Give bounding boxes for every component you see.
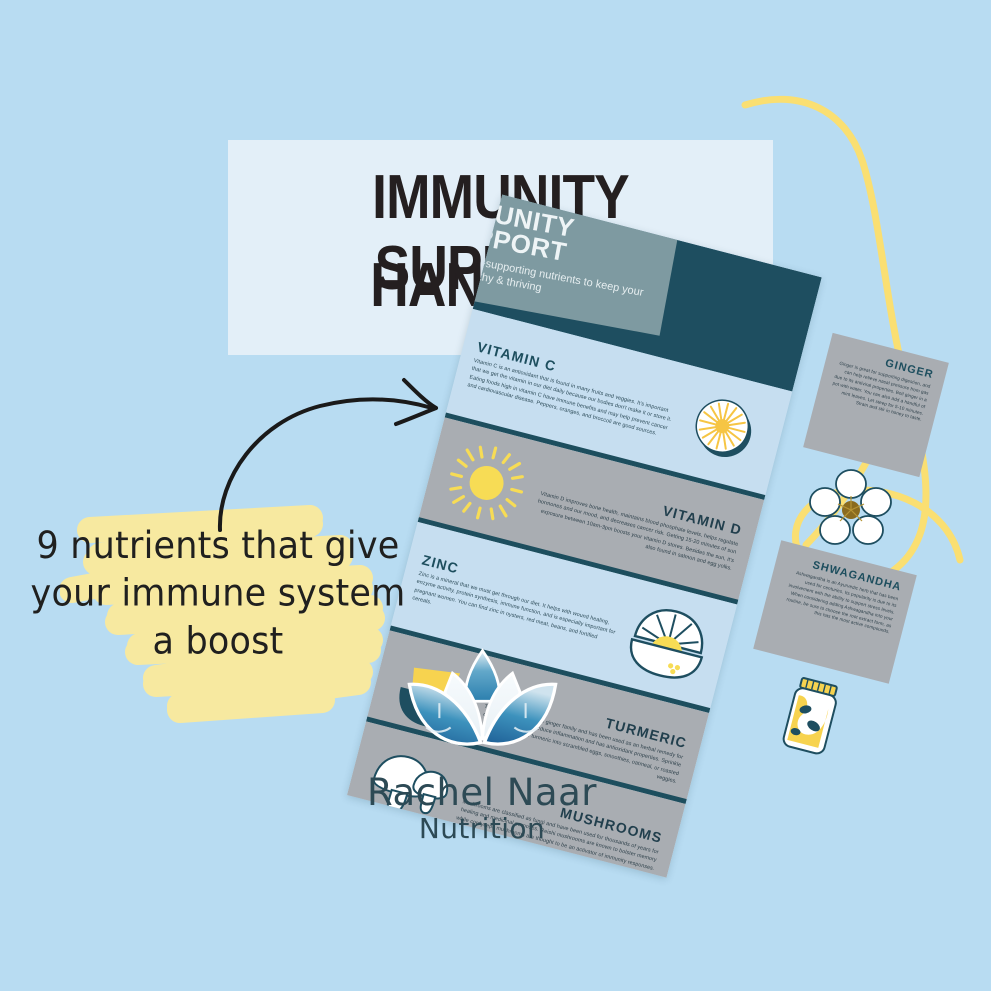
brand-name: Rachel Naar xyxy=(352,771,612,814)
brand-logo: Rachel Naar Nutrition xyxy=(352,645,612,860)
lotus-leaf-icon xyxy=(395,645,570,765)
brand-subtitle: Nutrition xyxy=(352,812,612,845)
jar-icon xyxy=(773,671,849,761)
handout-side-card-ginger: GINGER Ginger is great for supporting di… xyxy=(803,333,949,477)
white-flower-icon xyxy=(806,466,896,552)
orange-slice-icon xyxy=(672,378,776,479)
sun-icon xyxy=(435,432,539,533)
subtitle-text: 9 nutrients that give your immune system… xyxy=(28,523,408,665)
poster-canvas: IMMUNITY SUPPORT HANDOUT IMMUNITY SUPPOR… xyxy=(0,0,991,991)
oyster-shell-icon xyxy=(617,591,721,692)
handout-side-card-shwagandha: SHWAGANDHA Ashwagandha is an Ayurvedic h… xyxy=(753,540,917,683)
